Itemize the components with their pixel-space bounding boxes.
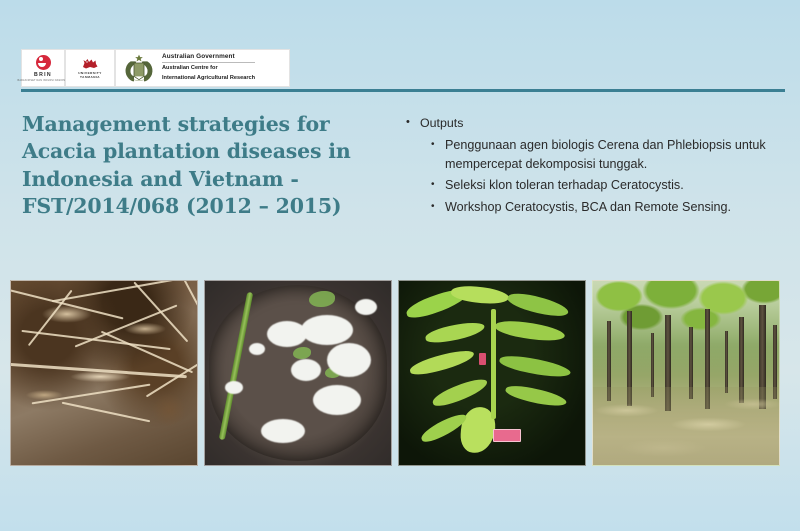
pink-label-tag: [493, 429, 521, 442]
fungal-inoculum-clump: [291, 359, 321, 381]
bullet-item-1-label: Penggunaan agen biologis Cerena dan Phle…: [445, 136, 786, 174]
slide-title-line-2: Acacia plantation diseases in: [22, 138, 382, 165]
tasmania-lion-crest-icon: [81, 57, 99, 70]
photo-fungal-mycelium-on-roots-in-soil: [10, 280, 198, 466]
pink-label-tag: [479, 353, 486, 365]
fungal-inoculum-clump: [249, 343, 265, 355]
fungal-inoculum-clump: [225, 381, 243, 394]
photo-potted-plant-with-white-fungal-inoculum: [204, 280, 392, 466]
logo-aciar: Australian Government Australian Centre …: [115, 49, 290, 87]
slide-bullet-list: • Outputs • Penggunaan agen biologis Cer…: [406, 114, 786, 220]
brin-subtitle: BADAN RISET DAN INOVASI NASIONAL: [18, 79, 69, 82]
presentation-slide: BRIN BADAN RISET DAN INOVASI NASIONAL UN…: [0, 0, 800, 531]
logo-strip: BRIN BADAN RISET DAN INOVASI NASIONAL UN…: [21, 49, 290, 87]
bullet-heading-label: Outputs: [420, 114, 463, 133]
bullet-dot-icon: •: [406, 114, 420, 133]
tasmania-word-line2: TASMANIA: [78, 76, 102, 80]
leaf-shape: [450, 283, 510, 307]
slide-title-line-1: Management strategies for: [22, 111, 382, 138]
bullet-item-3-label: Workshop Ceratocystis, BCA dan Remote Se…: [445, 198, 786, 217]
photo-row: [10, 280, 785, 466]
brin-wordmark: BRIN: [34, 72, 52, 78]
bullet-heading-outputs: • Outputs: [406, 114, 786, 133]
aciar-text-block: Australian Government Australian Centre …: [162, 53, 255, 82]
forest-floor-layer: [593, 387, 779, 465]
bullet-item-1: • Penggunaan agen biologis Cerena dan Ph…: [431, 136, 786, 174]
australian-government-label: Australian Government: [162, 53, 255, 63]
bullet-dot-icon: •: [431, 198, 445, 217]
leaf-shape: [504, 382, 568, 411]
fungal-inoculum-clump: [313, 385, 361, 415]
aciar-centre-line2: International Agricultural Research: [162, 73, 255, 83]
leaf-shape: [494, 317, 566, 345]
bullet-item-3: • Workshop Ceratocystis, BCA dan Remote …: [431, 198, 786, 217]
slide-title: Management strategies for Acacia plantat…: [22, 111, 382, 220]
fungal-inoculum-clump: [261, 419, 305, 443]
photo-acacia-plantation-stand: [592, 280, 780, 466]
fungal-inoculum-clump: [301, 315, 353, 345]
tasmania-wordmark: UNIVERSITY TASMANIA: [78, 72, 102, 80]
bullet-item-2: • Seleksi klon toleran terhadap Ceratocy…: [431, 176, 786, 195]
root-strands-overlay: [11, 281, 197, 465]
leaf-shape: [408, 347, 476, 378]
leaf-shape: [424, 320, 486, 345]
leaf-shape: [506, 289, 570, 321]
slide-title-line-3: Indonesia and Vietnam -: [22, 166, 382, 193]
aciar-centre-line1: Australian Centre for: [162, 63, 255, 73]
leaf-shape: [498, 352, 572, 382]
slide-title-line-4: FST/2014/068 (2012 – 2015): [22, 193, 382, 220]
photo-acacia-seedlings-with-pink-label-tag: [398, 280, 586, 466]
plant-stem-shape: [491, 309, 496, 419]
bullet-dot-icon: •: [431, 176, 445, 195]
leaf-shape: [430, 376, 490, 410]
bullet-dot-icon: •: [431, 136, 445, 174]
brin-mark-icon: [36, 55, 51, 70]
fungal-inoculum-clump: [327, 343, 371, 377]
fungal-inoculum-clump: [355, 299, 377, 315]
header-divider-rule: [21, 89, 785, 92]
logo-university-of-tasmania: UNIVERSITY TASMANIA: [65, 49, 115, 87]
bullet-item-2-label: Seleksi klon toleran terhadap Ceratocyst…: [445, 176, 786, 195]
tree-canopy-layer: [593, 281, 779, 376]
logo-brin: BRIN BADAN RISET DAN INOVASI NASIONAL: [21, 49, 65, 87]
australian-coat-of-arms-icon: [119, 53, 159, 83]
tree-trunk: [725, 331, 728, 393]
